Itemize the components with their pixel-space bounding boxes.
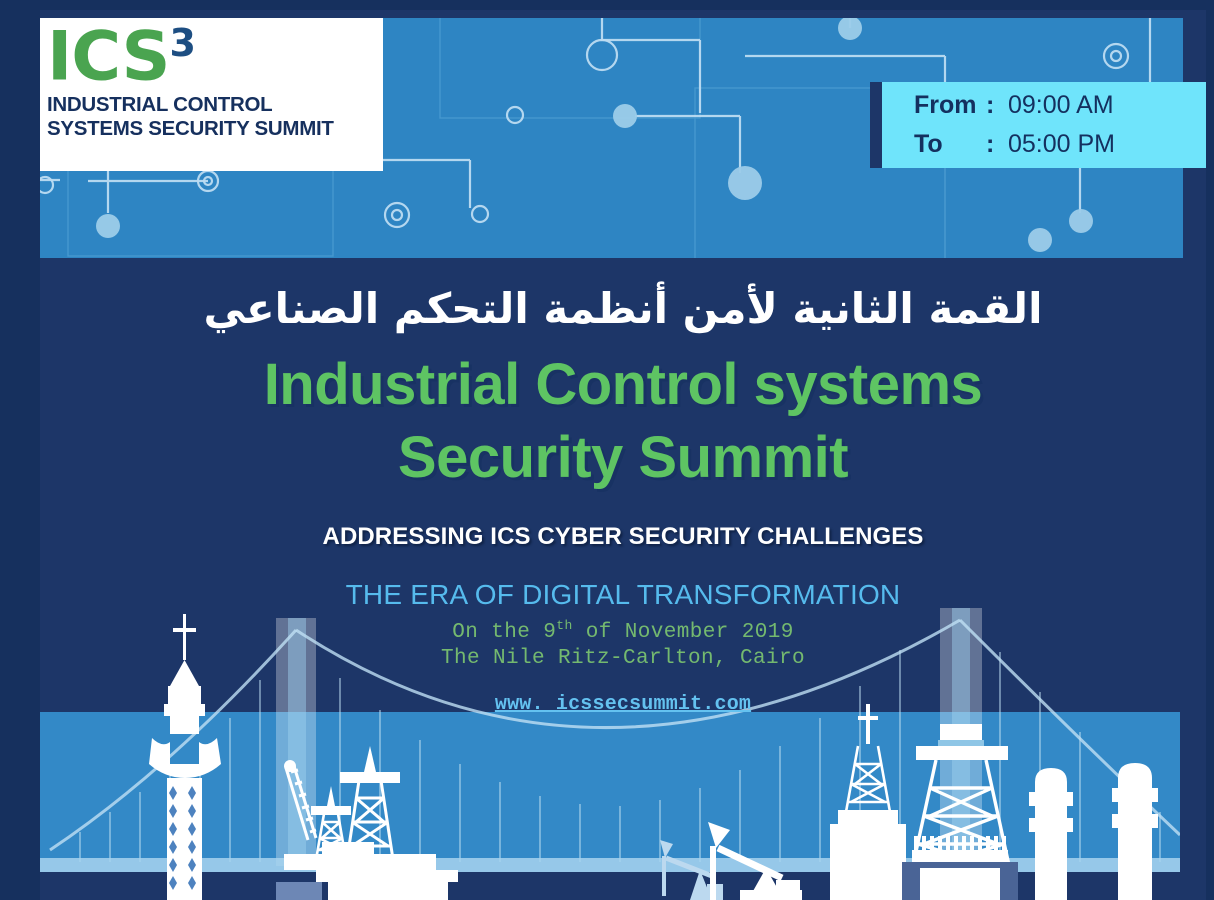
logo-line-1: INDUSTRIAL CONTROL xyxy=(47,93,373,117)
subtitle-secondary: THE ERA OF DIGITAL TRANSFORMATION xyxy=(40,579,1206,611)
logo-superscript: 3 xyxy=(169,21,194,65)
from-value: 09:00 AM xyxy=(1008,86,1114,125)
to-value: 05:00 PM xyxy=(1008,125,1115,164)
english-title-line-2: Security Summit xyxy=(80,421,1166,494)
from-colon: : xyxy=(986,86,1008,125)
subtitle-primary: ADDRESSING ICS CYBER SECURITY CHALLENGES xyxy=(40,523,1206,551)
website-link[interactable]: www. icssecsummit.com xyxy=(495,693,751,716)
event-date: On the 9th of November 2019 xyxy=(40,618,1206,646)
logo-subtext: INDUSTRIAL CONTROL SYSTEMS SECURITY SUMM… xyxy=(47,93,373,141)
ics3-logo: ICS3 INDUSTRIAL CONTROL SYSTEMS SECURITY… xyxy=(40,18,383,171)
arabic-title: القمة الثانية لأمن أنظمة التحكم الصناعي xyxy=(40,258,1206,334)
event-date-ordinal: th xyxy=(556,618,572,633)
english-title: Industrial Control systems Security Summ… xyxy=(40,348,1206,494)
slide-canvas: ICS3 INDUSTRIAL CONTROL SYSTEMS SECURITY… xyxy=(40,10,1206,900)
event-date-suffix: of November 2019 xyxy=(573,621,794,644)
english-title-line-1: Industrial Control systems xyxy=(80,348,1166,421)
to-colon: : xyxy=(986,125,1008,164)
event-details-block: On the 9th of November 2019 The Nile Rit… xyxy=(40,618,1206,716)
logo-mark-text: ICS xyxy=(47,18,169,97)
logo-wordmark: ICS3 xyxy=(47,24,373,89)
time-row-to: To : 05:00 PM xyxy=(914,125,1206,164)
from-label: From xyxy=(914,86,986,125)
logo-line-2: SYSTEMS SECURITY SUMMIT xyxy=(47,117,373,141)
to-label: To xyxy=(914,125,986,164)
event-venue: The Nile Ritz-Carlton, Cairo xyxy=(40,646,1206,672)
event-time-badge: From : 09:00 AM To : 05:00 PM xyxy=(870,82,1206,168)
title-block: القمة الثانية لأمن أنظمة التحكم الصناعي … xyxy=(40,258,1206,611)
time-row-from: From : 09:00 AM xyxy=(914,86,1206,125)
event-date-prefix: On the 9 xyxy=(452,621,556,644)
event-poster: ICS3 INDUSTRIAL CONTROL SYSTEMS SECURITY… xyxy=(0,0,1214,900)
